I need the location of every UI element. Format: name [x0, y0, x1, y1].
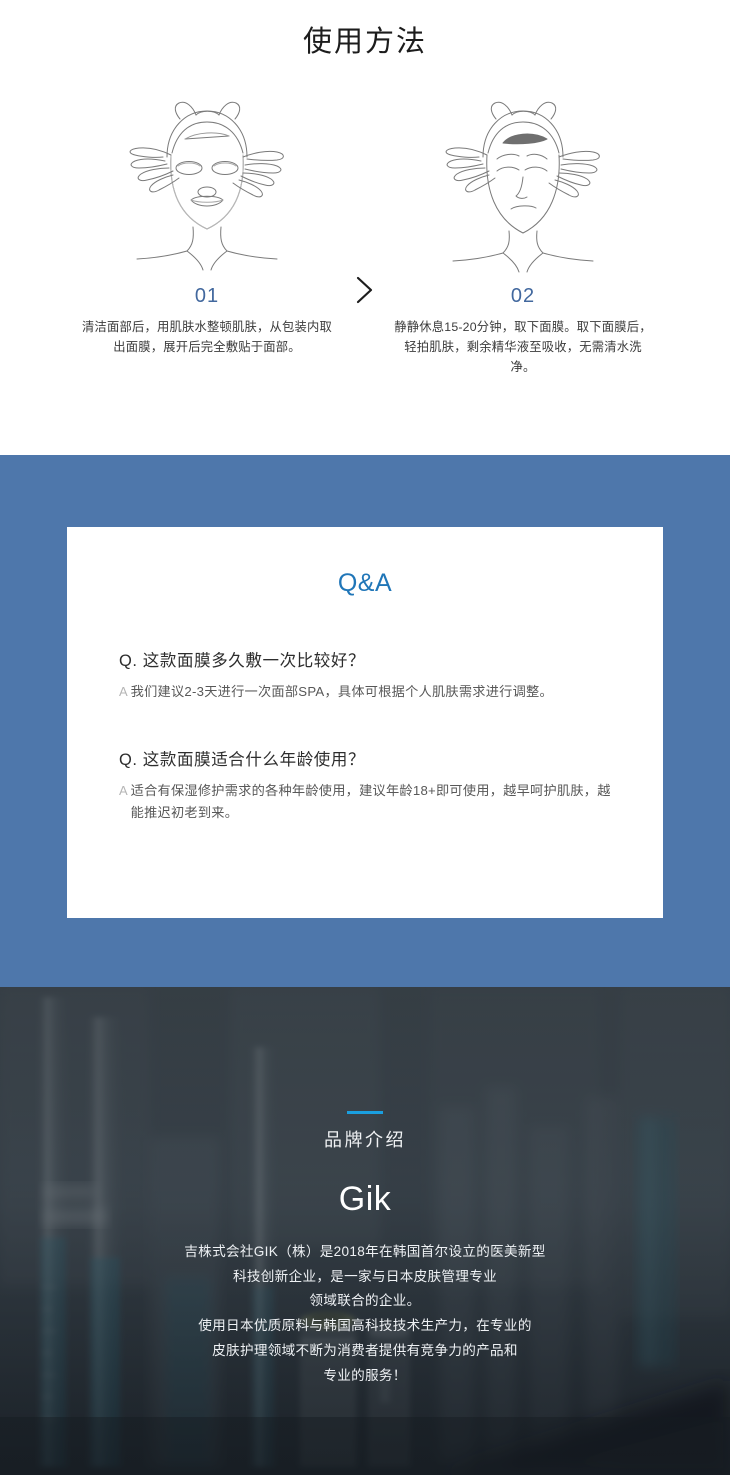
qa-question: Q. 这款面膜适合什么年龄使用？ [119, 746, 619, 770]
face-patting-skin-illustration [378, 95, 668, 280]
step-number: 01 [62, 285, 352, 308]
qa-answer-prefix: A [119, 681, 128, 703]
brand-section [0, 987, 730, 1475]
qa-list: Q. 这款面膜多久敷一次比较好？ A 我们建议2-3天进行一次面部SPA，具体可… [119, 647, 619, 867]
qa-answer-text: 适合有保湿修护需求的各种年龄使用，建议年龄18+即可使用，越早呵护肌肤，越能推迟… [131, 780, 619, 825]
qa-item: Q. 这款面膜多久敷一次比较好？ A 我们建议2-3天进行一次面部SPA，具体可… [119, 647, 619, 704]
step-description: 静静休息15-20分钟，取下面膜。取下面膜后，轻拍肌肤，剩余精华液至吸收，无需清… [378, 318, 668, 378]
page-title: 使用方法 [0, 18, 730, 60]
qa-question: Q. 这款面膜多久敷一次比较好？ [119, 647, 619, 671]
face-with-sheet-mask-illustration [62, 95, 352, 280]
brand-overlay [0, 987, 730, 1475]
qa-answer: A 适合有保湿修护需求的各种年龄使用，建议年龄18+即可使用，越早呵护肌肤，越能… [119, 780, 619, 825]
chevron-right-icon [349, 270, 379, 310]
steps-container: 01 清洁面部后，用肌肤水整顿肌肤，从包装内取出面膜，展开后完全敷贴于面部。 [0, 95, 730, 395]
step-item-02: 02 静静休息15-20分钟，取下面膜。取下面膜后，轻拍肌肤，剩余精华液至吸收，… [378, 95, 668, 378]
qa-answer-text: 我们建议2-3天进行一次面部SPA，具体可根据个人肌肤需求进行调整。 [131, 681, 553, 704]
step-description: 清洁面部后，用肌肤水整顿肌肤，从包装内取出面膜，展开后完全敷贴于面部。 [62, 318, 352, 358]
step-number: 02 [378, 285, 668, 308]
qa-card: Q&A Q. 这款面膜多久敷一次比较好？ A 我们建议2-3天进行一次面部SPA… [67, 527, 663, 918]
step-item-01: 01 清洁面部后，用肌肤水整顿肌肤，从包装内取出面膜，展开后完全敷贴于面部。 [62, 95, 352, 358]
qa-item: Q. 这款面膜适合什么年龄使用？ A 适合有保湿修护需求的各种年龄使用，建议年龄… [119, 746, 619, 825]
how-to-use-section: 使用方法 [0, 0, 730, 455]
qa-section: Q&A Q. 这款面膜多久敷一次比较好？ A 我们建议2-3天进行一次面部SPA… [0, 455, 730, 987]
product-detail-page: 使用方法 [0, 0, 730, 1475]
qa-title: Q&A [67, 569, 663, 598]
qa-answer-prefix: A [119, 780, 128, 802]
qa-answer: A 我们建议2-3天进行一次面部SPA，具体可根据个人肌肤需求进行调整。 [119, 681, 619, 704]
